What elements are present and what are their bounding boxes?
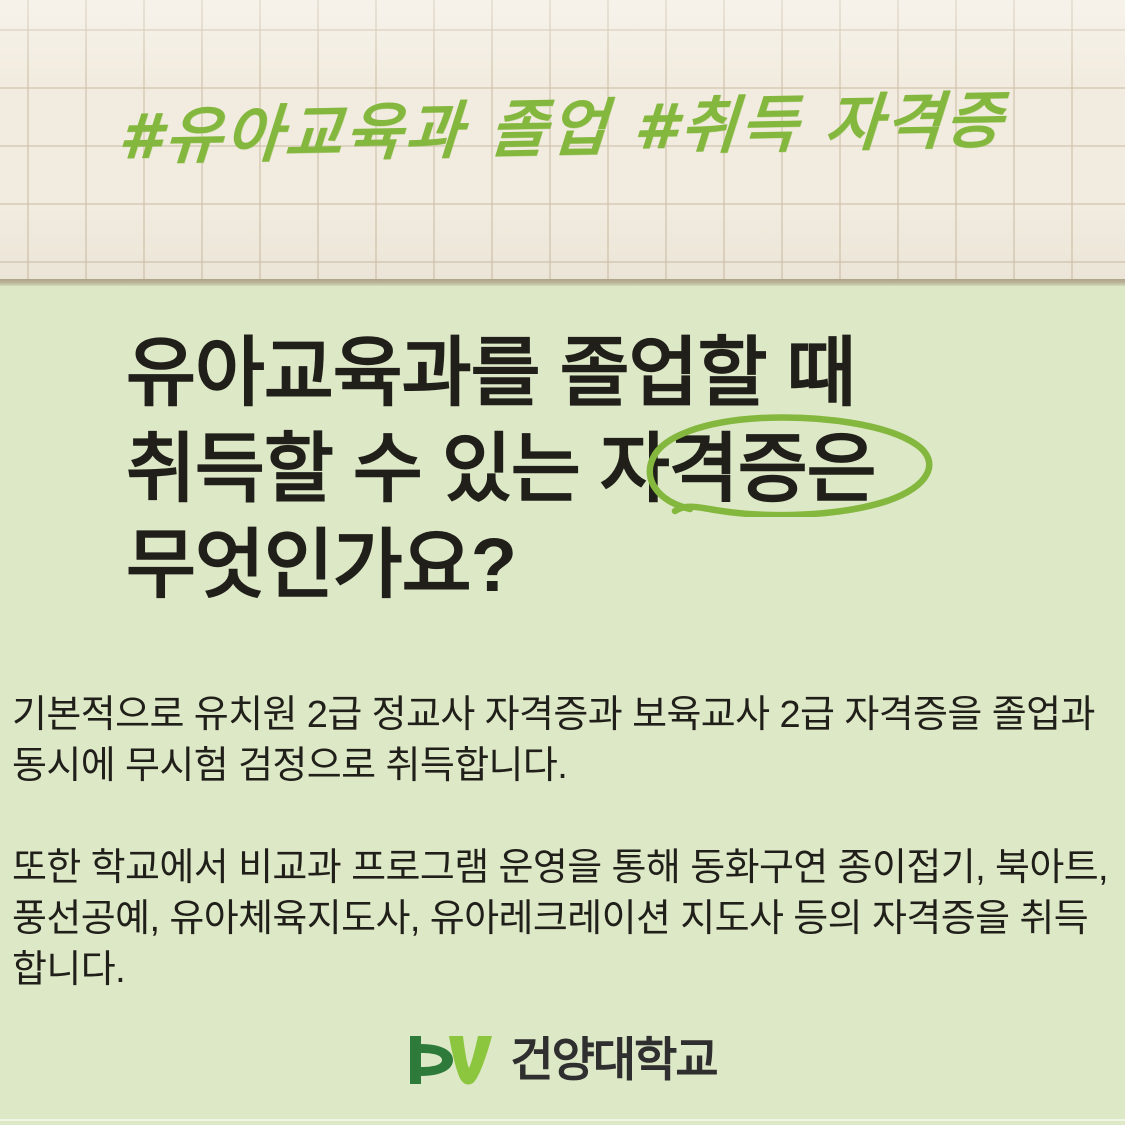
info-card: #유아교육과 졸업 #취득 자격증 유아교육과를 졸업할 때 취득할 수 있는 … xyxy=(0,0,1125,1125)
header-divider xyxy=(0,279,1125,286)
page-title: 유아교육과를 졸업할 때 취득할 수 있는 자격증은 무엇인가요? xyxy=(126,326,1106,614)
body-content-area: 유아교육과를 졸업할 때 취득할 수 있는 자격증은 무엇인가요? 기본적으로 … xyxy=(0,286,1125,1125)
heading-line-1: 유아교육과를 졸업할 때 xyxy=(126,326,1106,422)
university-logo-lockup: 건양대학교 xyxy=(0,1034,1125,1086)
paragraph-extracurricular-certificates: 또한 학교에서 비교과 프로그램 운영을 통해 동화구연 종이접기, 북아트, … xyxy=(12,843,1117,996)
university-name-label: 건양대학교 xyxy=(510,1034,716,1086)
ky-logo-icon xyxy=(408,1034,494,1086)
handwritten-hashtag-title: #유아교육과 졸업 #취득 자격증 xyxy=(0,67,1125,179)
heading-line-2: 취득할 수 있는 자격증은 xyxy=(126,422,1106,518)
header-grid-background: #유아교육과 졸업 #취득 자격증 xyxy=(0,0,1125,285)
bottom-rule xyxy=(0,1119,1125,1121)
paragraph-basic-certificates: 기본적으로 유치원 2급 정교사 자격증과 보육교사 2급 자격증을 졸업과 동… xyxy=(12,690,1117,792)
heading-line-3: 무엇인가요? xyxy=(126,518,1106,614)
body-text-block: 기본적으로 유치원 2급 정교사 자격증과 보육교사 2급 자격증을 졸업과 동… xyxy=(12,690,1117,996)
